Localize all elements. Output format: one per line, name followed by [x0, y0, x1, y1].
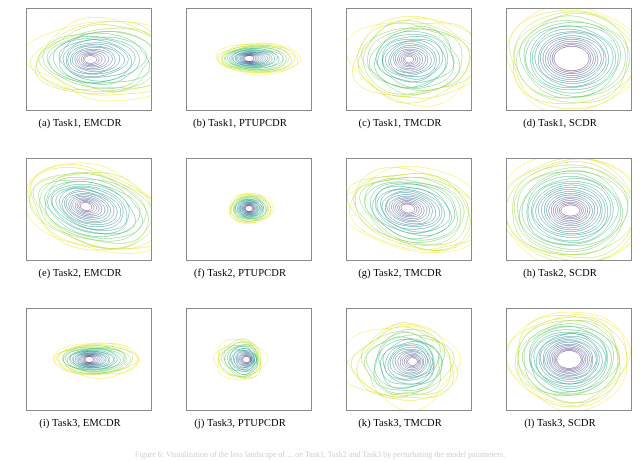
x-tick-mark [58, 260, 59, 261]
x-tick-mark [151, 110, 152, 111]
plot-area-f: 10.50-0.5-1-1-0.500.51 [186, 158, 312, 261]
x-tick-mark [538, 110, 539, 111]
contour-lines-a [27, 9, 151, 110]
y-tick-mark [346, 384, 347, 385]
contour-panel-c: 10.50-0.5-1-1-0.500.51(c) Task1, TMCDR [320, 0, 480, 150]
y-tick-mark [346, 209, 347, 210]
y-tick-mark [506, 334, 507, 335]
x-tick-mark [440, 260, 441, 261]
y-tick-mark [26, 159, 27, 160]
y-tick-mark [186, 34, 187, 35]
y-tick-mark [26, 184, 27, 185]
y-tick-mark [26, 234, 27, 235]
x-tick-label: 1 [470, 110, 472, 111]
x-tick-label: -1 [186, 110, 188, 111]
x-tick-mark [600, 410, 601, 411]
x-tick-label: 0.5 [118, 410, 122, 411]
plot-area-a: 10.50-0.5-1-1-0.500.51 [26, 8, 152, 111]
y-tick-mark [186, 334, 187, 335]
y-tick-mark [186, 234, 187, 235]
x-tick-mark [569, 260, 570, 261]
x-tick-mark [538, 260, 539, 261]
panel-caption-h: (h) Task2, SCDR [480, 268, 640, 279]
figure-caption: Figure 6: Visualization of the loss land… [0, 450, 640, 462]
x-tick-mark [440, 110, 441, 111]
contour-lines-j [187, 309, 311, 410]
x-tick-label: -0.5 [376, 110, 381, 111]
y-tick-mark [346, 234, 347, 235]
x-tick-mark [311, 110, 312, 111]
x-tick-mark [280, 410, 281, 411]
x-tick-label: 0.5 [438, 110, 442, 111]
x-tick-label: 1 [150, 260, 152, 261]
x-tick-mark [409, 110, 410, 111]
panel-caption-k: (k) Task3, TMCDR [320, 418, 480, 429]
x-tick-label: 1 [150, 410, 152, 411]
plot-area-e: 10.50-0.5-1-1-0.500.51 [26, 158, 152, 261]
contour-figure-grid: 10.50-0.5-1-1-0.500.51(a) Task1, EMCDR10… [0, 0, 640, 462]
x-tick-mark [378, 110, 379, 111]
contour-panel-h: 10.50-0.5-1-1-0.500.51(h) Task2, SCDR [480, 150, 640, 300]
y-tick-mark [506, 34, 507, 35]
x-tick-mark [471, 260, 472, 261]
y-tick-mark [26, 384, 27, 385]
x-tick-mark [347, 410, 348, 411]
y-tick-mark [186, 84, 187, 85]
x-tick-mark [120, 410, 121, 411]
x-tick-label: 0.5 [598, 110, 602, 111]
x-tick-label: 0.5 [438, 260, 442, 261]
x-tick-mark [27, 260, 28, 261]
x-tick-mark [151, 410, 152, 411]
contour-panel-e: 10.50-0.5-1-1-0.500.51(e) Task2, EMCDR [0, 150, 160, 300]
contour-lines-h [507, 159, 631, 260]
panel-caption-b: (b) Task1, PTUPCDR [160, 118, 320, 129]
y-tick-mark [186, 184, 187, 185]
contour-panel-g: 10.50-0.5-1-1-0.500.51(g) Task2, TMCDR [320, 150, 480, 300]
x-tick-mark [347, 110, 348, 111]
y-tick-mark [346, 184, 347, 185]
contour-lines-c [347, 9, 471, 110]
y-tick-mark [186, 209, 187, 210]
x-tick-mark [249, 410, 250, 411]
x-tick-mark [27, 410, 28, 411]
x-tick-label: -1 [26, 260, 28, 261]
x-tick-label: 0.5 [278, 410, 282, 411]
plot-area-l: 10.50-0.5-1-1-0.500.51 [506, 308, 632, 411]
y-tick-mark [186, 309, 187, 310]
x-tick-label: 1 [630, 110, 632, 111]
panel-caption-e: (e) Task2, EMCDR [0, 268, 160, 279]
x-tick-mark [218, 110, 219, 111]
y-tick-mark [26, 359, 27, 360]
y-tick-mark [26, 309, 27, 310]
y-tick-mark [506, 309, 507, 310]
y-tick-mark [346, 59, 347, 60]
plot-area-b: 10.50-0.5-1-1-0.500.51 [186, 8, 312, 111]
x-tick-mark [631, 410, 632, 411]
x-tick-mark [471, 110, 472, 111]
x-tick-label: 0.5 [278, 110, 282, 111]
x-tick-mark [58, 410, 59, 411]
x-tick-label: -1 [186, 410, 188, 411]
x-tick-mark [187, 260, 188, 261]
x-tick-mark [27, 110, 28, 111]
x-tick-label: 0 [568, 110, 570, 111]
x-tick-mark [409, 260, 410, 261]
x-tick-label: 0.5 [278, 260, 282, 261]
y-tick-mark [26, 59, 27, 60]
y-tick-mark [26, 9, 27, 10]
x-tick-label: 1 [470, 410, 472, 411]
x-tick-label: 0 [408, 410, 410, 411]
x-tick-label: -0.5 [216, 410, 221, 411]
x-tick-label: 0 [248, 260, 250, 261]
panel-caption-c: (c) Task1, TMCDR [320, 118, 480, 129]
contour-panel-k: 10.50-0.5-1-1-0.500.51(k) Task3, TMCDR [320, 300, 480, 450]
x-tick-label: -0.5 [56, 110, 61, 111]
x-tick-label: -0.5 [56, 260, 61, 261]
x-tick-label: -0.5 [216, 110, 221, 111]
x-tick-mark [280, 260, 281, 261]
panel-caption-a: (a) Task1, EMCDR [0, 118, 160, 129]
contour-lines-e [27, 159, 151, 260]
x-tick-label: -1 [26, 110, 28, 111]
x-tick-mark [538, 410, 539, 411]
x-tick-label: 0 [88, 410, 90, 411]
y-tick-mark [26, 209, 27, 210]
x-tick-label: -1 [26, 410, 28, 411]
y-tick-mark [186, 159, 187, 160]
x-tick-mark [89, 410, 90, 411]
contour-lines-b [187, 9, 311, 110]
x-tick-mark [631, 260, 632, 261]
contour-panel-i: 10.50-0.5-1-1-0.500.51(i) Task3, EMCDR [0, 300, 160, 450]
x-tick-mark [89, 260, 90, 261]
panel-caption-j: (j) Task3, PTUPCDR [160, 418, 320, 429]
x-tick-label: -1 [346, 260, 348, 261]
x-tick-label: -0.5 [376, 260, 381, 261]
plot-area-i: 10.50-0.5-1-1-0.500.51 [26, 308, 152, 411]
y-tick-mark [346, 84, 347, 85]
x-tick-mark [89, 110, 90, 111]
y-tick-mark [506, 234, 507, 235]
y-tick-mark [506, 9, 507, 10]
x-tick-mark [600, 110, 601, 111]
x-tick-mark [58, 110, 59, 111]
x-tick-mark [187, 410, 188, 411]
x-tick-mark [409, 410, 410, 411]
y-tick-mark [506, 209, 507, 210]
y-tick-mark [186, 9, 187, 10]
x-tick-mark [631, 110, 632, 111]
contour-panel-l: 10.50-0.5-1-1-0.500.51(l) Task3, SCDR [480, 300, 640, 450]
x-tick-label: -0.5 [376, 410, 381, 411]
x-tick-label: -1 [506, 110, 508, 111]
panel-caption-i: (i) Task3, EMCDR [0, 418, 160, 429]
x-tick-label: 0.5 [118, 110, 122, 111]
y-tick-mark [346, 359, 347, 360]
x-tick-label: 0.5 [598, 260, 602, 261]
y-tick-mark [186, 59, 187, 60]
x-tick-mark [378, 260, 379, 261]
contour-panel-f: 10.50-0.5-1-1-0.500.51(f) Task2, PTUPCDR [160, 150, 320, 300]
x-tick-mark [378, 410, 379, 411]
y-tick-mark [506, 159, 507, 160]
x-tick-mark [187, 110, 188, 111]
plot-area-d: 10.50-0.5-1-1-0.500.51 [506, 8, 632, 111]
x-tick-mark [507, 260, 508, 261]
contour-panel-j: 10.50-0.5-1-1-0.500.51(j) Task3, PTUPCDR [160, 300, 320, 450]
x-tick-label: -1 [186, 260, 188, 261]
contour-lines-f [187, 159, 311, 260]
y-tick-mark [346, 334, 347, 335]
y-tick-mark [26, 34, 27, 35]
x-tick-label: 1 [150, 110, 152, 111]
x-tick-mark [569, 410, 570, 411]
contour-panel-a: 10.50-0.5-1-1-0.500.51(a) Task1, EMCDR [0, 0, 160, 150]
x-tick-label: 0 [88, 110, 90, 111]
y-tick-mark [346, 9, 347, 10]
contour-lines-i [27, 309, 151, 410]
x-tick-mark [600, 260, 601, 261]
y-tick-mark [506, 184, 507, 185]
y-tick-mark [26, 84, 27, 85]
x-tick-label: 0 [248, 410, 250, 411]
x-tick-label: -1 [506, 260, 508, 261]
y-tick-mark [506, 359, 507, 360]
contour-lines-k [347, 309, 471, 410]
x-tick-label: -0.5 [216, 260, 221, 261]
x-tick-mark [120, 260, 121, 261]
y-tick-mark [506, 59, 507, 60]
x-tick-label: -0.5 [536, 410, 541, 411]
x-tick-label: 1 [630, 410, 632, 411]
x-tick-mark [280, 110, 281, 111]
contour-panel-d: 10.50-0.5-1-1-0.500.51(d) Task1, SCDR [480, 0, 640, 150]
x-tick-label: -1 [506, 410, 508, 411]
x-tick-mark [218, 260, 219, 261]
x-tick-label: -0.5 [56, 410, 61, 411]
x-tick-label: 0 [408, 260, 410, 261]
x-tick-label: 0 [408, 110, 410, 111]
x-tick-label: 1 [310, 110, 312, 111]
y-tick-mark [346, 159, 347, 160]
x-tick-mark [249, 260, 250, 261]
x-tick-label: 0.5 [438, 410, 442, 411]
y-tick-mark [26, 334, 27, 335]
x-tick-mark [311, 410, 312, 411]
x-tick-label: 1 [470, 260, 472, 261]
panel-caption-f: (f) Task2, PTUPCDR [160, 268, 320, 279]
x-tick-label: -1 [346, 110, 348, 111]
x-tick-label: 0 [568, 260, 570, 261]
panel-caption-l: (l) Task3, SCDR [480, 418, 640, 429]
x-tick-mark [507, 110, 508, 111]
x-tick-label: -0.5 [536, 260, 541, 261]
x-tick-label: -1 [346, 410, 348, 411]
contour-lines-l [507, 309, 631, 410]
plot-area-g: 10.50-0.5-1-1-0.500.51 [346, 158, 472, 261]
plot-area-c: 10.50-0.5-1-1-0.500.51 [346, 8, 472, 111]
x-tick-label: 0 [88, 260, 90, 261]
x-tick-label: 1 [310, 410, 312, 411]
y-tick-mark [186, 384, 187, 385]
contour-lines-d [507, 9, 631, 110]
x-tick-mark [471, 410, 472, 411]
panel-caption-g: (g) Task2, TMCDR [320, 268, 480, 279]
x-tick-mark [311, 260, 312, 261]
x-tick-mark [151, 260, 152, 261]
y-tick-mark [506, 84, 507, 85]
x-tick-mark [120, 110, 121, 111]
x-tick-mark [347, 260, 348, 261]
x-tick-label: 0 [248, 110, 250, 111]
x-tick-label: 0.5 [118, 260, 122, 261]
y-tick-mark [186, 359, 187, 360]
x-tick-mark [218, 410, 219, 411]
x-tick-mark [507, 410, 508, 411]
x-tick-label: 0.5 [598, 410, 602, 411]
panel-caption-d: (d) Task1, SCDR [480, 118, 640, 129]
x-tick-label: 0 [568, 410, 570, 411]
plot-area-j: 10.50-0.5-1-1-0.500.51 [186, 308, 312, 411]
y-tick-mark [506, 384, 507, 385]
contour-panel-b: 10.50-0.5-1-1-0.500.51(b) Task1, PTUPCDR [160, 0, 320, 150]
x-tick-label: 1 [630, 260, 632, 261]
x-tick-mark [440, 410, 441, 411]
x-tick-mark [569, 110, 570, 111]
plot-area-k: 10.50-0.5-1-1-0.500.51 [346, 308, 472, 411]
plot-area-h: 10.50-0.5-1-1-0.500.51 [506, 158, 632, 261]
x-tick-label: -0.5 [536, 110, 541, 111]
y-tick-mark [346, 34, 347, 35]
x-tick-mark [249, 110, 250, 111]
contour-lines-g [347, 159, 471, 260]
x-tick-label: 1 [310, 260, 312, 261]
y-tick-mark [346, 309, 347, 310]
